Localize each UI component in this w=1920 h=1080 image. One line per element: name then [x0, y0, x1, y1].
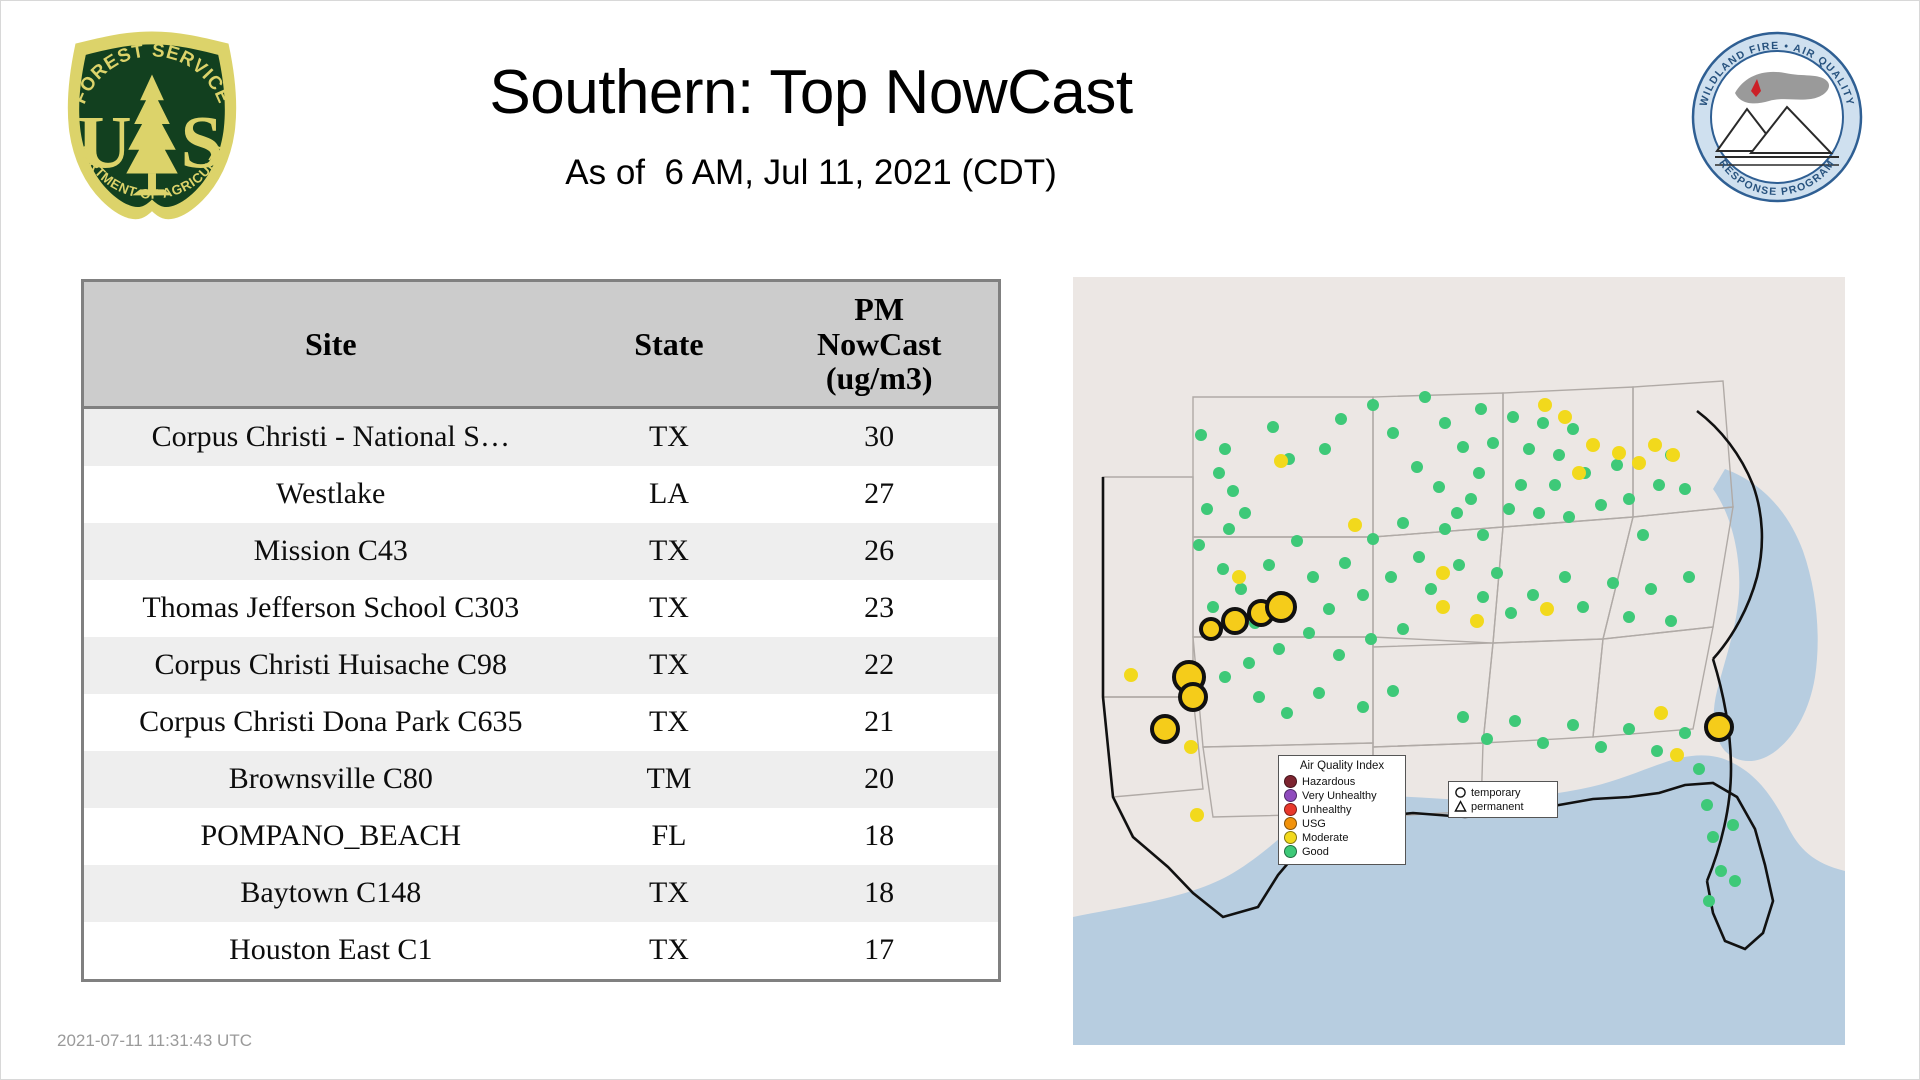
marker-type-legend: temporary permanent — [1448, 781, 1558, 818]
cell-state: TX — [578, 922, 761, 979]
legend-swatch-good — [1284, 845, 1297, 858]
page-subtitle: As of 6 AM, Jul 11, 2021 (CDT) — [301, 153, 1321, 193]
legend-swatch-very-unhealthy — [1284, 789, 1297, 802]
cell-state: TX — [578, 694, 761, 751]
cell-value: 30 — [760, 407, 998, 466]
cell-state: TX — [578, 580, 761, 637]
table-header-row: Site State PM NowCast (ug/m3) — [84, 282, 998, 407]
cell-state: TM — [578, 751, 761, 808]
table-row: Mission C43 TX 26 — [84, 523, 998, 580]
cell-site: Corpus Christi Dona Park C635 — [84, 694, 578, 751]
legend-label-moderate: Moderate — [1302, 832, 1348, 844]
legend-item-unhealthy: Unhealthy — [1284, 803, 1400, 816]
column-header-site: Site — [84, 282, 578, 407]
cell-site: POMPANO_BEACH — [84, 808, 578, 865]
cell-value: 20 — [760, 751, 998, 808]
table-row: Westlake LA 27 — [84, 466, 998, 523]
legend-item-good: Good — [1284, 845, 1400, 858]
cell-value: 21 — [760, 694, 998, 751]
cell-site: Westlake — [84, 466, 578, 523]
aqi-legend: Air Quality Index Hazardous Very Unhealt… — [1278, 755, 1406, 865]
table-row: Corpus Christi Huisache C98 TX 22 — [84, 637, 998, 694]
cell-value: 18 — [760, 808, 998, 865]
cell-site: Brownsville C80 — [84, 751, 578, 808]
cell-value: 22 — [760, 637, 998, 694]
legend-item-very-unhealthy: Very Unhealthy — [1284, 789, 1400, 802]
slide-canvas: FOREST SERVICE U S DEPARTMENT OF AGRICUL… — [0, 0, 1920, 1080]
marker-label-temporary: temporary — [1471, 787, 1521, 799]
column-header-pm-line3: (ug/m3) — [764, 361, 994, 396]
legend-label-good: Good — [1302, 846, 1329, 858]
marker-item-temporary: temporary — [1454, 786, 1552, 799]
circle-marker-icon — [1454, 786, 1467, 799]
cell-site: Baytown C148 — [84, 865, 578, 922]
legend-item-usg: USG — [1284, 817, 1400, 830]
cell-value: 23 — [760, 580, 998, 637]
marker-label-permanent: permanent — [1471, 801, 1524, 813]
table-row: Houston East C1 TX 17 — [84, 922, 998, 979]
cell-value: 26 — [760, 523, 998, 580]
wildland-fire-air-quality-badge: WILDLAND FIRE • AIR QUALITY RESPONSE PRO… — [1691, 31, 1863, 203]
marker-item-permanent: permanent — [1454, 800, 1552, 813]
table-row: Baytown C148 TX 18 — [84, 865, 998, 922]
column-header-state: State — [578, 282, 761, 407]
table-row: Corpus Christi - National S… TX 30 — [84, 407, 998, 466]
legend-swatch-unhealthy — [1284, 803, 1297, 816]
legend-label-unhealthy: Unhealthy — [1302, 804, 1352, 816]
map-canvas — [1073, 277, 1845, 1045]
cell-site: Thomas Jefferson School C303 — [84, 580, 578, 637]
legend-label-usg: USG — [1302, 818, 1326, 830]
table-row: POMPANO_BEACH FL 18 — [84, 808, 998, 865]
cell-site: Houston East C1 — [84, 922, 578, 979]
legend-label-very-unhealthy: Very Unhealthy — [1302, 790, 1377, 802]
air-quality-map[interactable]: Air Quality Index Hazardous Very Unhealt… — [1073, 277, 1845, 1045]
column-header-pm-line1: PM — [764, 292, 994, 327]
cell-state: TX — [578, 523, 761, 580]
legend-swatch-usg — [1284, 817, 1297, 830]
cell-state: TX — [578, 865, 761, 922]
cell-state: FL — [578, 808, 761, 865]
legend-swatch-hazardous — [1284, 775, 1297, 788]
legend-item-moderate: Moderate — [1284, 831, 1400, 844]
table-row: Brownsville C80 TM 20 — [84, 751, 998, 808]
legend-swatch-moderate — [1284, 831, 1297, 844]
legend-item-hazardous: Hazardous — [1284, 775, 1400, 788]
cell-site: Mission C43 — [84, 523, 578, 580]
page-title: Southern: Top NowCast — [301, 57, 1321, 128]
table-row: Thomas Jefferson School C303 TX 23 — [84, 580, 998, 637]
cell-state: TX — [578, 407, 761, 466]
cell-state: LA — [578, 466, 761, 523]
top-nowcast-table: Site State PM NowCast (ug/m3) Corpus Chr… — [81, 279, 1001, 982]
column-header-pm-line2: NowCast — [764, 327, 994, 362]
forest-service-logo: FOREST SERVICE U S DEPARTMENT OF AGRICUL… — [53, 29, 251, 227]
cell-site: Corpus Christi Huisache C98 — [84, 637, 578, 694]
legend-title: Air Quality Index — [1284, 760, 1400, 772]
cell-value: 18 — [760, 865, 998, 922]
generation-timestamp: 2021-07-11 11:31:43 UTC — [57, 1031, 252, 1051]
cell-value: 17 — [760, 922, 998, 979]
column-header-pm-nowcast: PM NowCast (ug/m3) — [760, 282, 998, 407]
cell-state: TX — [578, 637, 761, 694]
triangle-marker-icon — [1454, 800, 1467, 813]
legend-label-hazardous: Hazardous — [1302, 776, 1355, 788]
cell-site: Corpus Christi - National S… — [84, 407, 578, 466]
table-row: Corpus Christi Dona Park C635 TX 21 — [84, 694, 998, 751]
cell-value: 27 — [760, 466, 998, 523]
